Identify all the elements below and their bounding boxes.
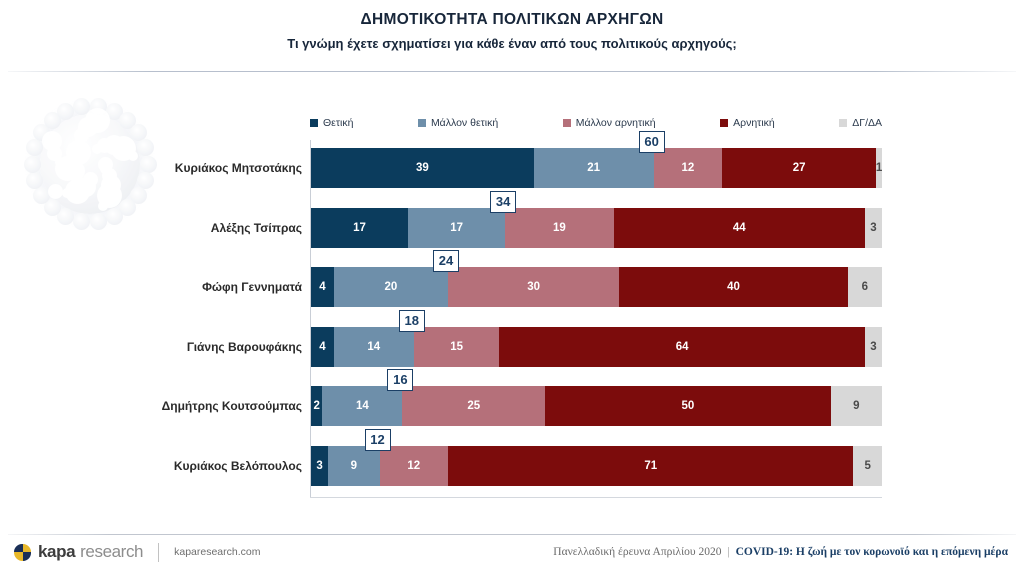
bar-segment[interactable]: 17	[311, 208, 408, 248]
survey-attribution: Πανελλαδική έρευνα Απριλίου 2020 | COVID…	[553, 546, 1008, 558]
virus-surface-blob	[85, 108, 110, 133]
logo-kapa-text: kapa	[38, 542, 75, 562]
bar-segment-value: 9	[853, 400, 859, 412]
legend-item-0[interactable]: Θετική	[310, 117, 353, 129]
logo-research-text: research	[80, 542, 143, 562]
chart-footer: kapa research kaparesearch.com Πανελλαδι…	[0, 535, 1024, 571]
bar-segment-value: 2	[314, 400, 320, 412]
bar-segment-value: 27	[793, 162, 806, 174]
bar-segment[interactable]: 50	[545, 386, 831, 426]
bar-segment-value: 4	[319, 281, 325, 293]
bar-segment-value: 30	[527, 281, 540, 293]
bar-row: 171719443	[311, 208, 882, 248]
bar-segment[interactable]: 6	[848, 267, 882, 307]
positive-total-callout: 34	[490, 191, 516, 213]
bar-segment[interactable]: 3	[865, 327, 882, 367]
bar-segment-value: 9	[351, 460, 357, 472]
bar-segment-value: 14	[367, 341, 380, 353]
chart-plot-area: 3921122716017171944334420304062441415643…	[310, 140, 882, 498]
positive-total-callout: 12	[365, 429, 391, 451]
bar-segment-value: 3	[870, 341, 876, 353]
category-label: Κυριάκος Μητσοτάκης	[32, 148, 302, 188]
legend-swatch-icon	[839, 119, 847, 127]
bar-segment[interactable]: 15	[414, 327, 500, 367]
legend-item-1[interactable]: Μάλλον θετική	[418, 117, 498, 129]
bar-segment-value: 21	[587, 162, 600, 174]
bar-segment[interactable]: 17	[408, 208, 505, 248]
bar-segment[interactable]: 20	[334, 267, 448, 307]
bar-segment[interactable]: 64	[499, 327, 864, 367]
virus-spike	[130, 124, 147, 141]
bar-segment[interactable]: 4	[311, 267, 334, 307]
kapa-logo-icon	[14, 544, 31, 561]
bar-segment-value: 12	[681, 162, 694, 174]
page-subtitle: Τι γνώμη έχετε σχηματίσει για κάθε έναν …	[0, 36, 1024, 51]
bar-segment-value: 19	[553, 222, 566, 234]
legend-swatch-icon	[418, 119, 426, 127]
bar-segment-value: 15	[450, 341, 463, 353]
bar-segment[interactable]: 14	[334, 327, 414, 367]
bar-segment-value: 40	[727, 281, 740, 293]
bar-segment-value: 71	[644, 460, 657, 472]
legend-swatch-icon	[720, 119, 728, 127]
virus-surface-blob	[78, 117, 98, 137]
bar-row: 392112271	[311, 148, 882, 188]
bar-segment[interactable]: 12	[654, 148, 723, 188]
legend-label: Θετική	[323, 117, 353, 129]
bar-segment[interactable]: 44	[614, 208, 865, 248]
chart-legend: ΘετικήΜάλλον θετικήΜάλλον αρνητικήΑρνητι…	[310, 114, 882, 132]
bar-segment-value: 5	[864, 460, 870, 472]
chart-header: ΔΗΜΟΤΙΚΟΤΗΤΑ ΠΟΛΙΤΙΚΩΝ ΑΡΧΗΓΩΝ Τι γνώμη …	[0, 0, 1024, 72]
bar-segment[interactable]: 40	[619, 267, 847, 307]
bar-segment[interactable]: 30	[448, 267, 619, 307]
virus-spike	[33, 124, 50, 141]
brand-logo[interactable]: kapa research kaparesearch.com	[14, 542, 260, 562]
bar-segment-value: 6	[862, 281, 868, 293]
bar-segment[interactable]: 4	[311, 327, 334, 367]
category-label: Κυριάκος Βελόπουλος	[32, 446, 302, 486]
bar-segment[interactable]: 3	[865, 208, 882, 248]
bar-row: 21425509	[311, 386, 882, 426]
bar-segment[interactable]: 25	[402, 386, 545, 426]
bar-segment[interactable]: 9	[831, 386, 882, 426]
footer-separator: |	[727, 546, 729, 558]
bar-segment-value: 3	[870, 222, 876, 234]
bar-segment-value: 12	[407, 460, 420, 472]
legend-label: Μάλλον αρνητική	[576, 117, 656, 129]
survey-period-label: Πανελλαδική έρευνα Απριλίου 2020	[553, 546, 721, 558]
positive-total-callout: 60	[639, 131, 665, 153]
bar-segment[interactable]: 21	[534, 148, 654, 188]
legend-swatch-icon	[563, 119, 571, 127]
virus-spike	[44, 112, 61, 129]
bar-segment[interactable]: 2	[311, 386, 322, 426]
bar-segment-value: 1	[876, 162, 882, 174]
category-label-column: Κυριάκος ΜητσοτάκηςΑλέξης ΤσίπραςΦώφη Γε…	[26, 140, 302, 498]
bar-segment-value: 25	[467, 400, 480, 412]
category-label: Αλέξης Τσίπρας	[32, 208, 302, 248]
bar-segment[interactable]: 14	[322, 386, 402, 426]
bar-segment[interactable]: 27	[722, 148, 876, 188]
bar-segment-value: 17	[353, 222, 366, 234]
legend-item-3[interactable]: Αρνητική	[720, 117, 775, 129]
virus-spike	[57, 103, 74, 120]
bar-row: 41415643	[311, 327, 882, 367]
bar-row: 3912715	[311, 446, 882, 486]
category-label: Φώφη Γεννηματά	[32, 267, 302, 307]
value-axis-line	[310, 140, 311, 498]
bar-segment-value: 3	[316, 460, 322, 472]
bar-segment-value: 64	[676, 341, 689, 353]
legend-label: Μάλλον θετική	[431, 117, 498, 129]
bar-segment[interactable]: 12	[380, 446, 449, 486]
website-link[interactable]: kaparesearch.com	[174, 546, 260, 558]
bar-segment-value: 50	[681, 400, 694, 412]
virus-spike	[90, 98, 107, 115]
axis-baseline	[310, 497, 882, 498]
header-divider	[8, 71, 1016, 72]
positive-total-callout: 18	[399, 310, 425, 332]
bar-segment[interactable]: 5	[853, 446, 882, 486]
legend-label: Αρνητική	[733, 117, 775, 129]
bar-segment[interactable]: 19	[505, 208, 613, 248]
category-label: Γιάνης Βαρουφάκης	[32, 327, 302, 367]
bar-segment[interactable]: 39	[311, 148, 534, 188]
bar-segment[interactable]: 1	[876, 148, 882, 188]
legend-label: ΔΓ/ΔΑ	[852, 117, 882, 129]
bar-segment[interactable]: 3	[311, 446, 328, 486]
bar-segment[interactable]: 9	[328, 446, 379, 486]
positive-total-callout: 24	[433, 250, 459, 272]
bar-segment-value: 17	[450, 222, 463, 234]
page-title: ΔΗΜΟΤΙΚΟΤΗΤΑ ΠΟΛΙΤΙΚΩΝ ΑΡΧΗΓΩΝ	[0, 11, 1024, 29]
bar-row: 42030406	[311, 267, 882, 307]
category-label: Δημήτρης Κουτσούμπας	[32, 386, 302, 426]
virus-spike	[106, 103, 123, 120]
positive-total-callout: 16	[387, 369, 413, 391]
legend-swatch-icon	[310, 119, 318, 127]
bar-segment-value: 39	[416, 162, 429, 174]
bar-segment-value: 4	[319, 341, 325, 353]
legend-item-4[interactable]: ΔΓ/ΔΑ	[839, 117, 882, 129]
virus-spike	[73, 98, 90, 115]
bar-segment-value: 20	[385, 281, 398, 293]
bar-segment-value: 14	[356, 400, 369, 412]
logo-separator	[158, 543, 159, 562]
legend-item-2[interactable]: Μάλλον αρνητική	[563, 117, 656, 129]
virus-spike	[119, 112, 136, 129]
bar-segment-value: 44	[733, 222, 746, 234]
bar-segment[interactable]: 71	[448, 446, 853, 486]
survey-topic-label: COVID-19: Η ζωή με τον κορωνοϊό και η επ…	[736, 546, 1008, 558]
